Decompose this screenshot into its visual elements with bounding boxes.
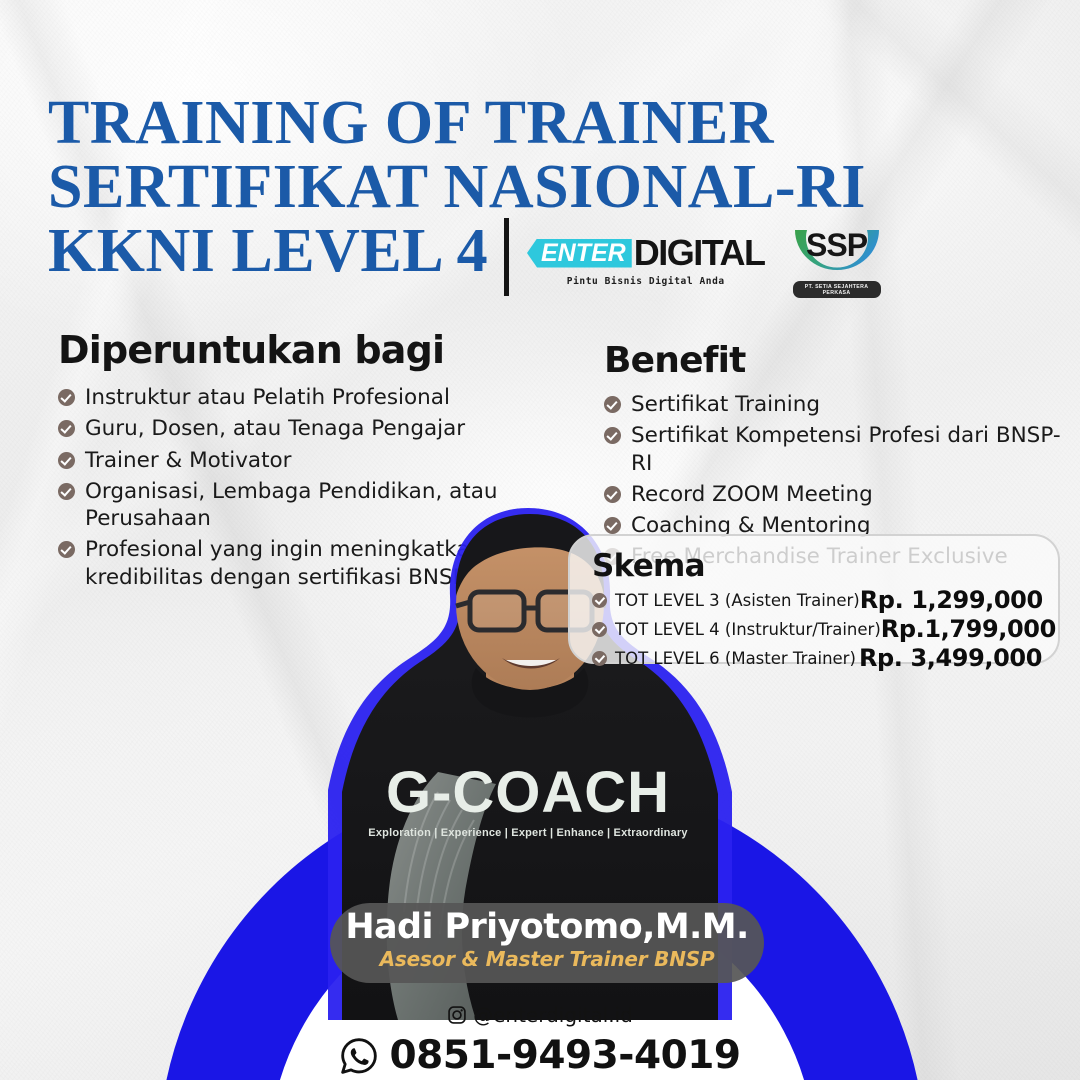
- shirt-tagline-text: Exploration | Experience | Expert | Enha…: [368, 827, 688, 839]
- list-item: Guru, Dosen, atau Tenaga Pengajar: [58, 415, 578, 442]
- skema-price: Rp. 1,299,000: [860, 586, 1043, 614]
- skema-level-label: TOT LEVEL 3 (Asisten Trainer): [615, 591, 860, 610]
- ssp-logo: SSP PT. SETIA SEJAHTERA PERKASA: [791, 224, 883, 298]
- ssp-wordmark: SSP: [791, 229, 883, 261]
- check-circle-icon: [592, 651, 607, 666]
- trainer-role: Asesor & Master Trainer BNSP: [330, 947, 764, 971]
- list-item-label: Sertifikat Training: [631, 391, 820, 418]
- skema-price: Rp.1,799,000: [881, 615, 1056, 643]
- headline-line-2: SERTIFIKAT NASIONAL-RI: [48, 156, 708, 220]
- logo-strip: ENTER DIGITAL Pintu Bisnis Digital Anda: [527, 224, 883, 298]
- list-item: Sertifikat Kompetensi Profesi dari BNSP-…: [604, 422, 1064, 477]
- table-row: TOT LEVEL 4 (Instruktur/Trainer) Rp.1,79…: [592, 615, 1042, 643]
- check-circle-icon: [604, 396, 621, 413]
- check-circle-icon: [58, 452, 75, 469]
- instagram-handle: @enterdigital.id: [473, 1003, 633, 1027]
- poster-canvas: TRAINING OF TRAINER SERTIFIKAT NASIONAL-…: [0, 0, 1080, 1080]
- skema-heading: Skema: [592, 548, 1042, 584]
- list-item: Instruktur atau Pelatih Profesional: [58, 384, 578, 411]
- enter-digital-enter-text: ENTER: [527, 239, 632, 268]
- list-item-label: Sertifikat Kompetensi Profesi dari BNSP-…: [631, 422, 1064, 477]
- headline-line-1: TRAINING OF TRAINER: [48, 92, 708, 156]
- enter-digital-tagline: Pintu Bisnis Digital Anda: [567, 276, 725, 287]
- contact-footer: @enterdigital.id 0851-9493-4019: [0, 1003, 1080, 1078]
- trainer-name: Hadi Priyotomo,M.M.: [330, 909, 764, 946]
- whatsapp-icon: [339, 1036, 379, 1076]
- skema-level-label: TOT LEVEL 4 (Instruktur/Trainer): [615, 620, 881, 639]
- list-item-label: Guru, Dosen, atau Tenaga Pengajar: [85, 415, 465, 442]
- check-circle-icon: [58, 420, 75, 437]
- check-circle-icon: [604, 427, 621, 444]
- status-badge: Hadi Priyotomo,M.M. Asesor & Master Trai…: [330, 903, 764, 983]
- check-circle-icon: [592, 593, 607, 608]
- skema-level-label: TOT LEVEL 6 (Master Trainer): [615, 649, 859, 668]
- enter-digital-digital-text: DIGITAL: [634, 235, 765, 271]
- skema-price: Rp. 3,499,000: [859, 644, 1042, 672]
- benefit-heading: Benefit: [604, 340, 1064, 381]
- table-row: TOT LEVEL 3 (Asisten Trainer) Rp. 1,299,…: [592, 586, 1042, 614]
- skema-card: Skema TOT LEVEL 3 (Asisten Trainer) Rp. …: [568, 534, 1060, 664]
- ssp-mark: SSP: [791, 224, 883, 280]
- shirt-brand-text: G-COACH: [386, 760, 670, 825]
- list-item: Trainer & Motivator: [58, 447, 578, 474]
- list-item-label: Instruktur atau Pelatih Profesional: [85, 384, 450, 411]
- list-item: Sertifikat Training: [604, 391, 1064, 418]
- logo-divider: [504, 218, 509, 296]
- audience-heading: Diperuntukan bagi: [58, 328, 578, 372]
- instagram-icon: [447, 1005, 467, 1025]
- check-circle-icon: [58, 389, 75, 406]
- check-circle-icon: [58, 483, 75, 500]
- list-item-label: Trainer & Motivator: [85, 447, 292, 474]
- ssp-company-banner: PT. SETIA SEJAHTERA PERKASA: [793, 281, 881, 298]
- instagram-contact[interactable]: @enterdigital.id: [447, 1003, 633, 1027]
- check-circle-icon: [58, 541, 75, 558]
- check-circle-icon: [592, 622, 607, 637]
- whatsapp-contact[interactable]: 0851-9493-4019: [0, 1033, 1080, 1078]
- table-row: TOT LEVEL 6 (Master Trainer) Rp. 3,499,0…: [592, 644, 1042, 672]
- enter-digital-wordmark: ENTER DIGITAL: [527, 235, 765, 271]
- enter-digital-logo: ENTER DIGITAL Pintu Bisnis Digital Anda: [527, 235, 765, 287]
- whatsapp-number: 0851-9493-4019: [389, 1033, 740, 1078]
